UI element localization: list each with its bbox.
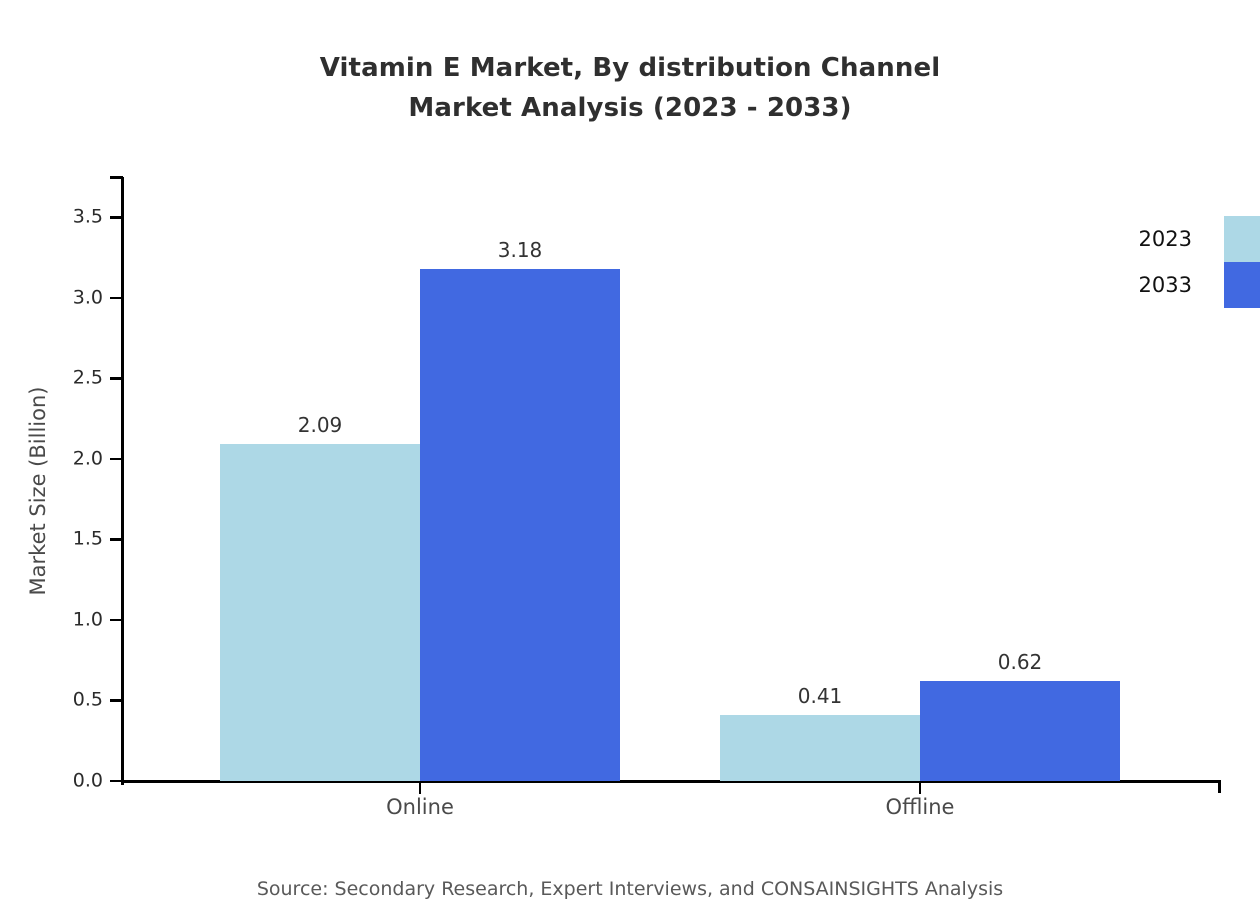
legend-label-2023[interactable]: 2023: [1139, 216, 1192, 262]
chart-title-line-2: Market Analysis (2023 - 2033): [0, 88, 1260, 128]
bar-offline-2023[interactable]: [720, 715, 920, 781]
chart-title: Vitamin E Market, By distribution Channe…: [0, 48, 1260, 128]
legend-swatch-2023[interactable]: [1224, 216, 1260, 262]
y-axis-tick: [110, 619, 123, 622]
y-axis-tick-label: 2.5: [73, 369, 103, 388]
x-axis-label-online: Online: [386, 795, 454, 819]
bar-offline-2033[interactable]: [920, 681, 1120, 781]
bar-value-label: 0.41: [798, 684, 843, 708]
bar-value-label: 0.62: [998, 650, 1043, 674]
y-axis-tick: [110, 377, 123, 380]
bar-value-label: 2.09: [298, 413, 343, 437]
y-axis-tick-label: 1.5: [73, 530, 103, 549]
y-axis-tick: [110, 216, 123, 219]
x-axis-tick: [919, 782, 922, 794]
bar-online-2023[interactable]: [220, 444, 420, 781]
legend-label-2033[interactable]: 2033: [1139, 262, 1192, 308]
chart-title-line-1: Vitamin E Market, By distribution Channe…: [320, 53, 940, 83]
y-axis-tick: [110, 458, 123, 461]
y-axis-tick: [110, 780, 123, 783]
y-axis-tick-label: 0.5: [73, 691, 103, 710]
source-note: Source: Secondary Research, Expert Inter…: [0, 878, 1260, 900]
y-axis-tick-label: 3.0: [73, 288, 103, 307]
y-axis-tick-label: 1.0: [73, 610, 103, 629]
x-axis-tick: [419, 782, 422, 794]
y-axis-tick-label: 2.0: [73, 449, 103, 468]
bar-value-label: 3.18: [498, 238, 543, 262]
y-axis-tick: [110, 297, 123, 300]
y-axis-tick: [110, 538, 123, 541]
y-axis-tick-label: 0.0: [73, 772, 103, 791]
y-axis-tick: [110, 699, 123, 702]
chart-container: Vitamin E Market, By distribution Channe…: [0, 0, 1260, 920]
bar-online-2033[interactable]: [420, 269, 620, 781]
legend-swatch-2033[interactable]: [1224, 262, 1260, 308]
y-axis-label: Market Size (Billion): [26, 331, 50, 651]
y-axis-top-cap: [110, 176, 123, 179]
x-axis-right-cap: [1218, 780, 1221, 793]
y-axis-tick-label: 3.5: [73, 208, 103, 227]
x-axis-label-offline: Offline: [886, 795, 955, 819]
y-axis-spine: [121, 177, 124, 785]
